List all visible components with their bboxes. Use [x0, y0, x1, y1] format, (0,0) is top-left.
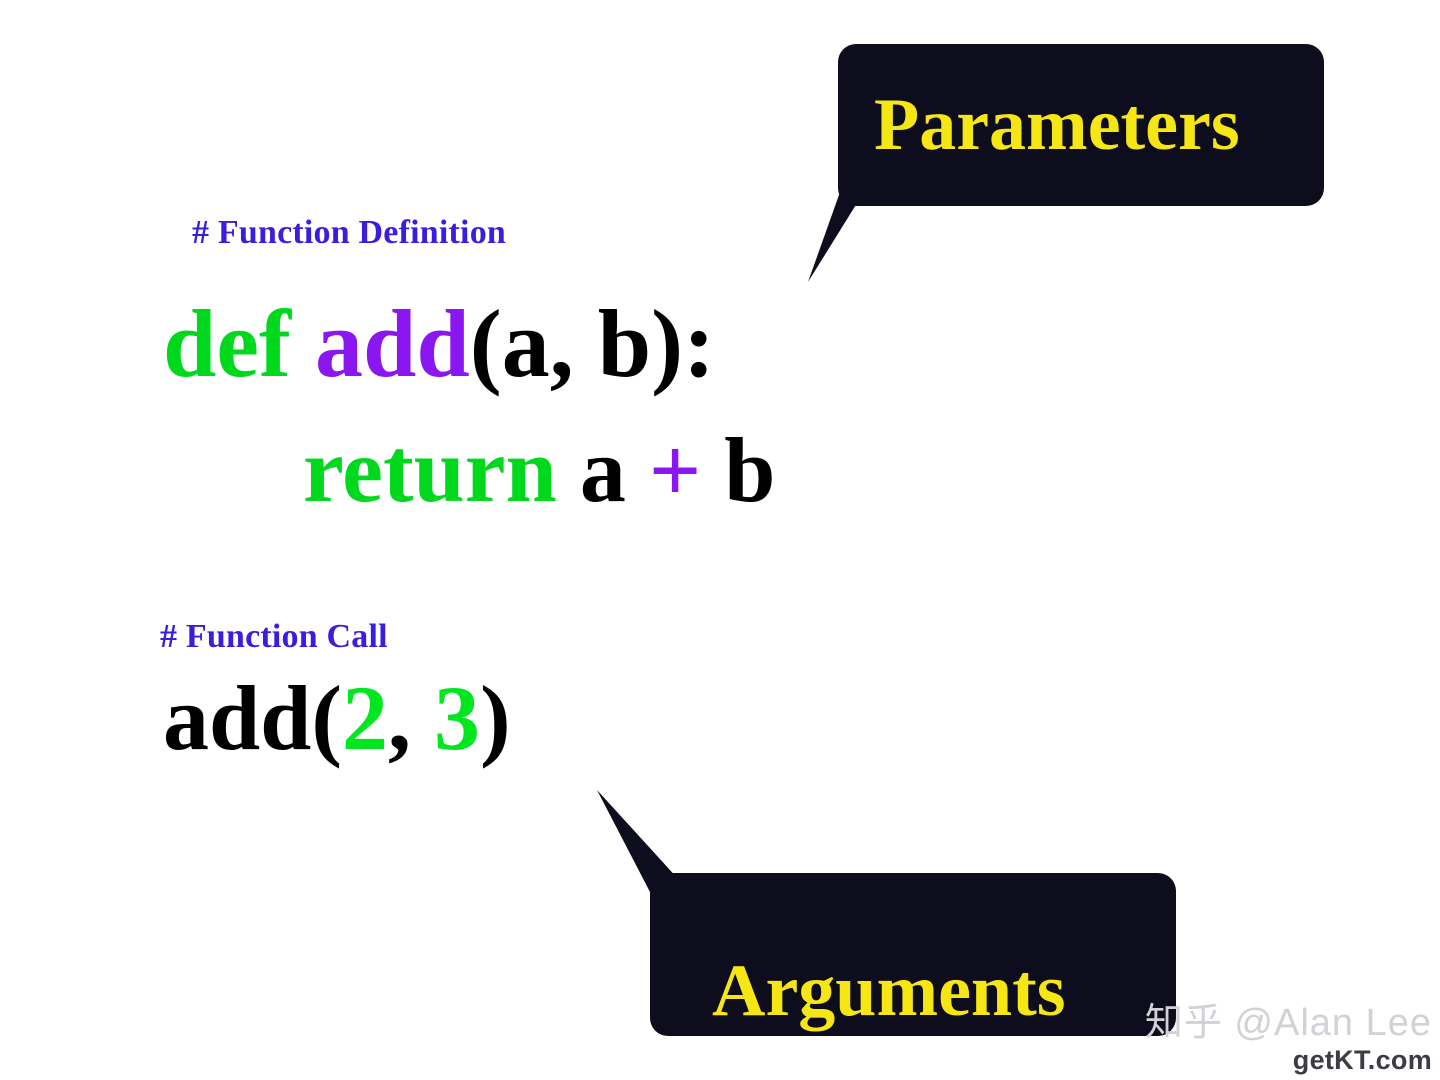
callout-bubble-arguments: Arguments: [650, 873, 1176, 1036]
token-signature-params: (a, b):: [470, 290, 715, 397]
code-line-return: return a + b: [303, 424, 775, 516]
slide-canvas: # Function Definition def add(a, b): ret…: [0, 0, 1440, 1080]
token-argument-1: 2: [342, 667, 388, 769]
watermark-site: getKT.com: [1145, 1046, 1432, 1076]
token-operand-a: a: [580, 419, 626, 521]
comment-function-call: # Function Call: [160, 618, 388, 656]
watermark: 知乎 @Alan Lee getKT.com: [1145, 1004, 1432, 1076]
token-space: [701, 419, 724, 521]
token-space: [557, 419, 580, 521]
token-keyword-def: def: [163, 290, 291, 397]
watermark-handle: 知乎 @Alan Lee: [1145, 1004, 1432, 1044]
token-argument-separator: ,: [388, 667, 434, 769]
token-operator-plus: +: [649, 419, 701, 521]
callout-bubble-parameters: Parameters: [838, 44, 1324, 206]
callout-label-arguments: Arguments: [712, 954, 1066, 1028]
token-argument-2: 3: [434, 667, 480, 769]
comment-function-definition: # Function Definition: [192, 214, 506, 252]
token-space: [626, 419, 649, 521]
token-paren-open: (: [311, 667, 342, 769]
code-line-def: def add(a, b):: [163, 296, 715, 392]
token-function-name-call: add: [163, 667, 311, 769]
token-function-name-def: add: [315, 290, 470, 397]
token-space: [291, 290, 315, 397]
token-operand-b: b: [724, 419, 775, 521]
token-keyword-return: return: [303, 419, 557, 521]
code-line-call: add(2, 3): [163, 672, 511, 764]
token-paren-close: ): [480, 667, 511, 769]
callout-label-parameters: Parameters: [874, 88, 1240, 162]
